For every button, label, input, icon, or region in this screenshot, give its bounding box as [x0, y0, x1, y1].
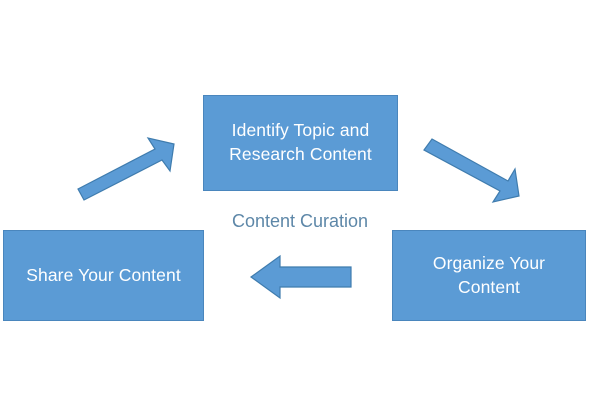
arrow-up-right-icon: [74, 138, 178, 202]
node-share-label: Share Your Content: [20, 264, 187, 288]
node-organize-label: Organize Your Content: [427, 252, 551, 299]
node-identify-topic-and-research-content[interactable]: Identify Topic and Research Content: [203, 95, 398, 191]
arrow-down-right-icon: [418, 138, 522, 204]
node-identify-label: Identify Topic and Research Content: [223, 119, 378, 166]
node-share-your-content[interactable]: Share Your Content: [3, 230, 204, 321]
diagram-center-caption: Content Curation: [196, 211, 404, 232]
arrow-left-icon: [249, 254, 353, 300]
content-curation-cycle-diagram: Identify Topic and Research Content Orga…: [0, 0, 600, 400]
node-organize-your-content[interactable]: Organize Your Content: [392, 230, 586, 321]
